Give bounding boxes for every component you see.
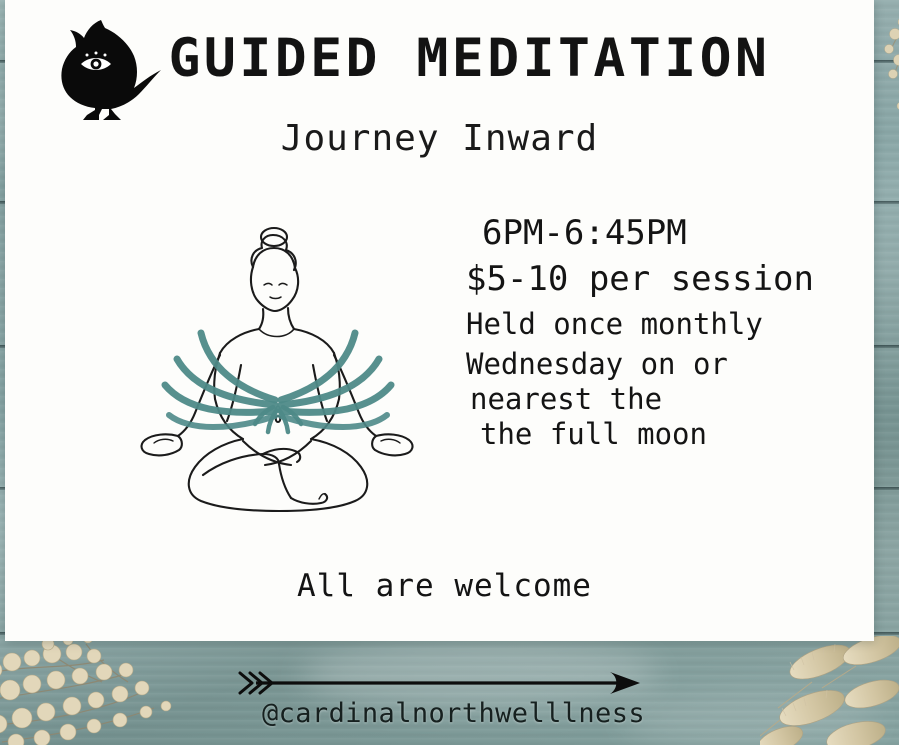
session-details: 6PM-6:45PM $5-10 per session Held once m… — [460, 212, 860, 453]
page-subtitle: Journey Inward — [5, 118, 874, 159]
meditation-flyer: GUIDED MEDITATION Journey Inward — [0, 0, 899, 745]
social-handle[interactable]: @cardinalnorthwelllness — [0, 698, 899, 729]
flyer-card: GUIDED MEDITATION Journey Inward — [5, 0, 874, 641]
detail-day-line-1: Wednesday on or — [466, 347, 860, 382]
detail-day-line-2: nearest the — [470, 382, 860, 417]
detail-day-line-3: the full moon — [480, 417, 860, 452]
lotus-meditation-figure-icon — [123, 205, 443, 525]
detail-time: 6PM-6:45PM — [482, 212, 860, 256]
page-title: GUIDED MEDITATION — [5, 28, 874, 89]
long-arrow-right-icon — [238, 670, 658, 696]
detail-price: $5-10 per session — [466, 256, 860, 302]
detail-frequency: Held once monthly — [466, 302, 860, 347]
welcome-message: All are welcome — [5, 568, 874, 604]
